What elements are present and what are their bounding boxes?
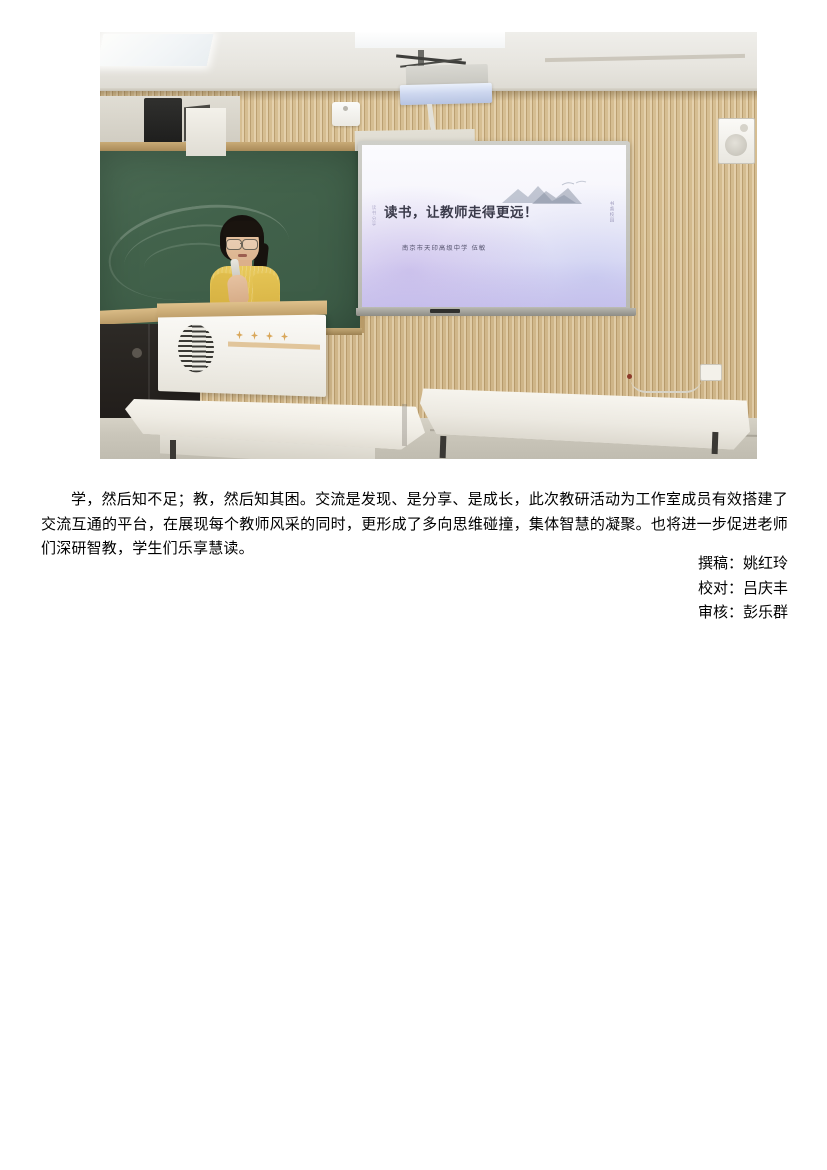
classroom-photo: 书香校园 读书分享 读书，让教师走得更远！ 南京市天印高级中学 伍敏 <box>100 32 757 459</box>
desk-leg <box>440 436 447 458</box>
slide-title: 读书，让教师走得更远！ <box>384 201 538 221</box>
desk-leg <box>712 432 719 454</box>
ceiling-light-icon <box>100 34 213 66</box>
desk-gap <box>402 404 407 446</box>
teacher-mouth <box>238 254 247 257</box>
signoff-block: 撰稿：姚红玲 校对：吕庆丰 审核：彭乐群 <box>41 551 788 625</box>
screen-glow <box>362 261 626 307</box>
diamond-ornament-icon <box>251 331 258 340</box>
left-speaker-icon <box>144 98 182 146</box>
document-page: 书香校园 读书分享 读书，让教师走得更远！ 南京市天印高级中学 伍敏 <box>0 0 827 1170</box>
teacher-glasses-bridge <box>240 243 243 244</box>
power-outlet-icon <box>700 364 722 381</box>
wifi-access-point-icon <box>332 102 360 126</box>
slide-side-text-left: 读书分享 <box>370 205 376 227</box>
projection-screen: 书香校园 读书分享 读书，让教师走得更远！ 南京市天印高级中学 伍敏 <box>362 145 626 307</box>
photo-canvas: 书香校园 读书分享 读书，让教师走得更远！ 南京市天印高级中学 伍敏 <box>100 32 757 459</box>
signoff-proofreader: 校对：吕庆丰 <box>41 576 788 601</box>
diamond-ornament-icon <box>281 332 288 341</box>
power-cord <box>630 377 702 393</box>
diamond-ornament-icon <box>236 330 243 339</box>
cabinet-handle <box>132 348 142 358</box>
wall-speaker-icon <box>718 118 755 164</box>
desk-leg <box>170 440 176 459</box>
cord-plug <box>627 374 632 379</box>
signoff-reviewer: 审核：彭乐群 <box>41 600 788 625</box>
podium <box>158 309 326 397</box>
article-paragraph: 学，然后知不足；教，然后知其困。交流是发现、是分享、是成长，此次教研活动为工作室… <box>41 487 788 561</box>
slide-subtitle: 南京市天印高级中学 伍敏 <box>402 242 486 252</box>
podium-band <box>228 342 320 350</box>
teacher-glasses-left <box>226 239 242 250</box>
speaker-tweeter <box>740 124 748 132</box>
wall-ledge <box>100 142 392 151</box>
podium-decoration <box>236 330 306 342</box>
podium-speaker-grille <box>178 324 214 373</box>
screen-control-buttons <box>430 309 460 313</box>
slide-side-text-right: 书香校园 <box>608 201 614 223</box>
projector-lens <box>400 83 492 105</box>
diamond-ornament-icon <box>266 331 273 340</box>
podium-pedestal <box>186 108 226 156</box>
podium-wood-top <box>157 301 327 318</box>
teacher-glasses-right <box>242 239 258 250</box>
speaker-cone <box>725 134 747 156</box>
screen-tray <box>356 308 636 316</box>
signoff-writer: 撰稿：姚红玲 <box>41 551 788 576</box>
teacher-fringe <box>223 221 263 237</box>
projection-screen-frame: 书香校园 读书分享 读书，让教师走得更远！ 南京市天印高级中学 伍敏 <box>358 141 630 311</box>
ceiling-light-secondary-icon <box>355 32 505 48</box>
